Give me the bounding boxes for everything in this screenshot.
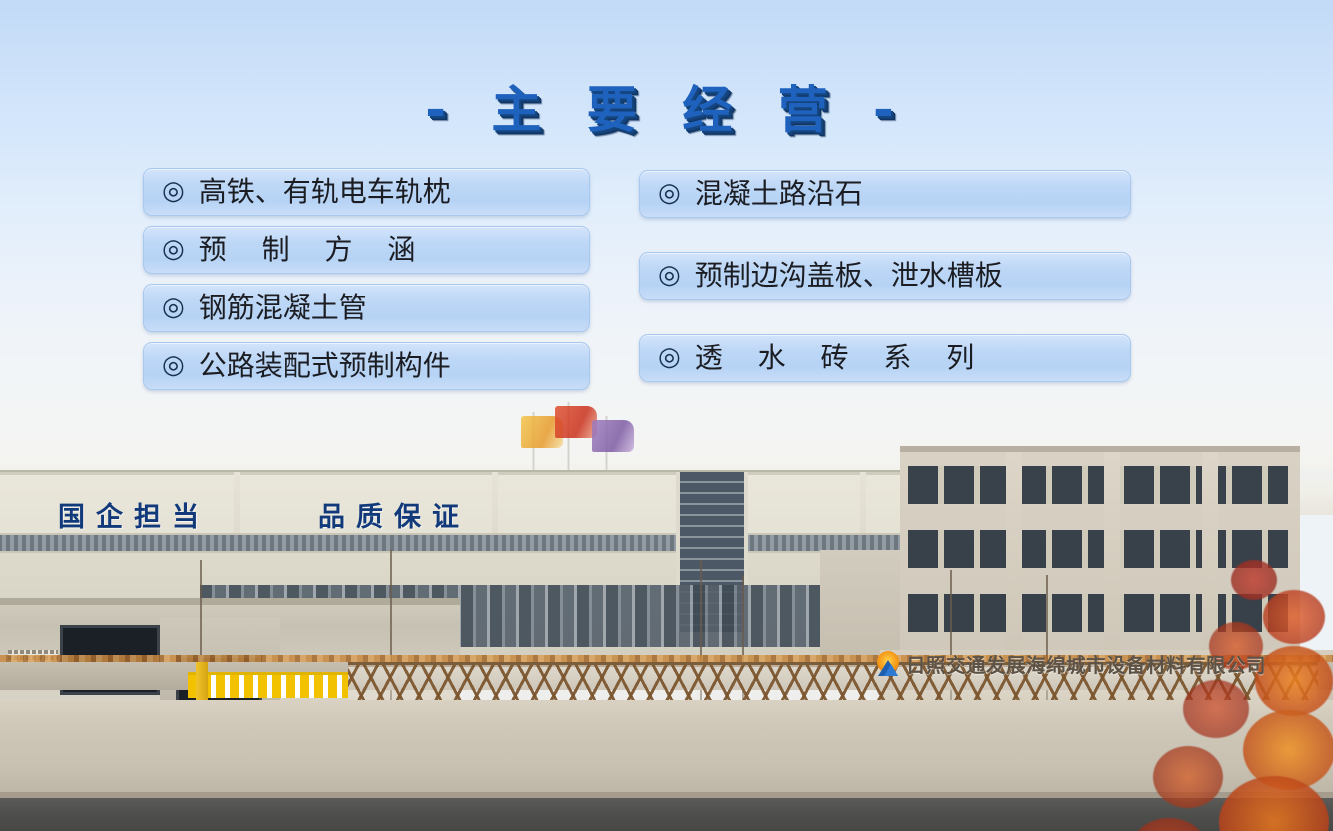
bullet-icon: ◎ — [658, 180, 681, 206]
office-window-row-1 — [908, 466, 1288, 504]
factory-photograph: 国企担当 品质保证 — [0, 400, 1333, 831]
company-name-text: 日照交通发展海绵城市设备材料有限公司 — [906, 649, 1266, 678]
bullet-icon: ◎ — [162, 352, 185, 378]
bullet-icon: ◎ — [658, 262, 681, 288]
hall-clerestory-band — [0, 533, 950, 553]
flag-red — [555, 406, 597, 438]
asphalt-road — [0, 798, 1333, 831]
service-item-precast-ditch-cover[interactable]: ◎ 预制边沟盖板、泄水槽板 — [639, 252, 1131, 300]
pavement — [0, 700, 1333, 795]
office-pillar-2 — [1104, 452, 1120, 667]
page-title: - 主 要 经 营 - — [0, 70, 1333, 142]
service-item-permeable-brick-series[interactable]: ◎ 透 水 砖 系 列 — [639, 334, 1131, 382]
services-section: ◎ 高铁、有轨电车轨枕 ◎ 预 制 方 涵 ◎ 钢筋混凝土管 ◎ 公路装配式预制… — [0, 168, 1333, 398]
service-label: 透 水 砖 系 列 — [695, 344, 988, 372]
service-label: 高铁、有轨电车轨枕 — [199, 178, 451, 206]
building-sign-left: 国企担当 — [58, 495, 210, 534]
service-label: 钢筋混凝土管 — [199, 294, 367, 322]
service-label: 公路装配式预制构件 — [199, 352, 451, 380]
service-item-precast-box-culvert[interactable]: ◎ 预 制 方 涵 — [143, 226, 590, 274]
bullet-icon: ◎ — [162, 178, 185, 204]
service-label: 混凝土路沿石 — [695, 180, 863, 208]
sun-mountain-logo-icon — [875, 650, 901, 676]
office-pillar-1 — [1006, 452, 1022, 667]
service-item-reinforced-concrete-pipe[interactable]: ◎ 钢筋混凝土管 — [143, 284, 590, 332]
service-item-concrete-curbstone[interactable]: ◎ 混凝土路沿石 — [639, 170, 1131, 218]
bullet-icon: ◎ — [658, 344, 681, 370]
bullet-icon: ◎ — [162, 236, 185, 262]
office-window-row-3 — [908, 594, 1288, 632]
company-name-plate: 日照交通发展海绵城市设备材料有限公司 — [875, 648, 1266, 678]
service-item-high-speed-rail-sleepers[interactable]: ◎ 高铁、有轨电车轨枕 — [143, 168, 590, 216]
yellow-barrier — [188, 672, 348, 698]
service-item-highway-prefab-components[interactable]: ◎ 公路装配式预制构件 — [143, 342, 590, 390]
poster-stage: 国企担当 品质保证 日照交通发展海绵城市设备材料有限公司 - 主 要 经 营 -… — [0, 0, 1333, 831]
flag-purple — [592, 420, 634, 452]
office-window-row-2 — [908, 530, 1288, 568]
service-label: 预 制 方 涵 — [199, 236, 429, 264]
bullet-icon: ◎ — [162, 294, 185, 320]
office-pillar-3 — [1202, 452, 1218, 667]
service-label: 预制边沟盖板、泄水槽板 — [695, 262, 1003, 290]
building-sign-right: 品质保证 — [318, 495, 470, 534]
